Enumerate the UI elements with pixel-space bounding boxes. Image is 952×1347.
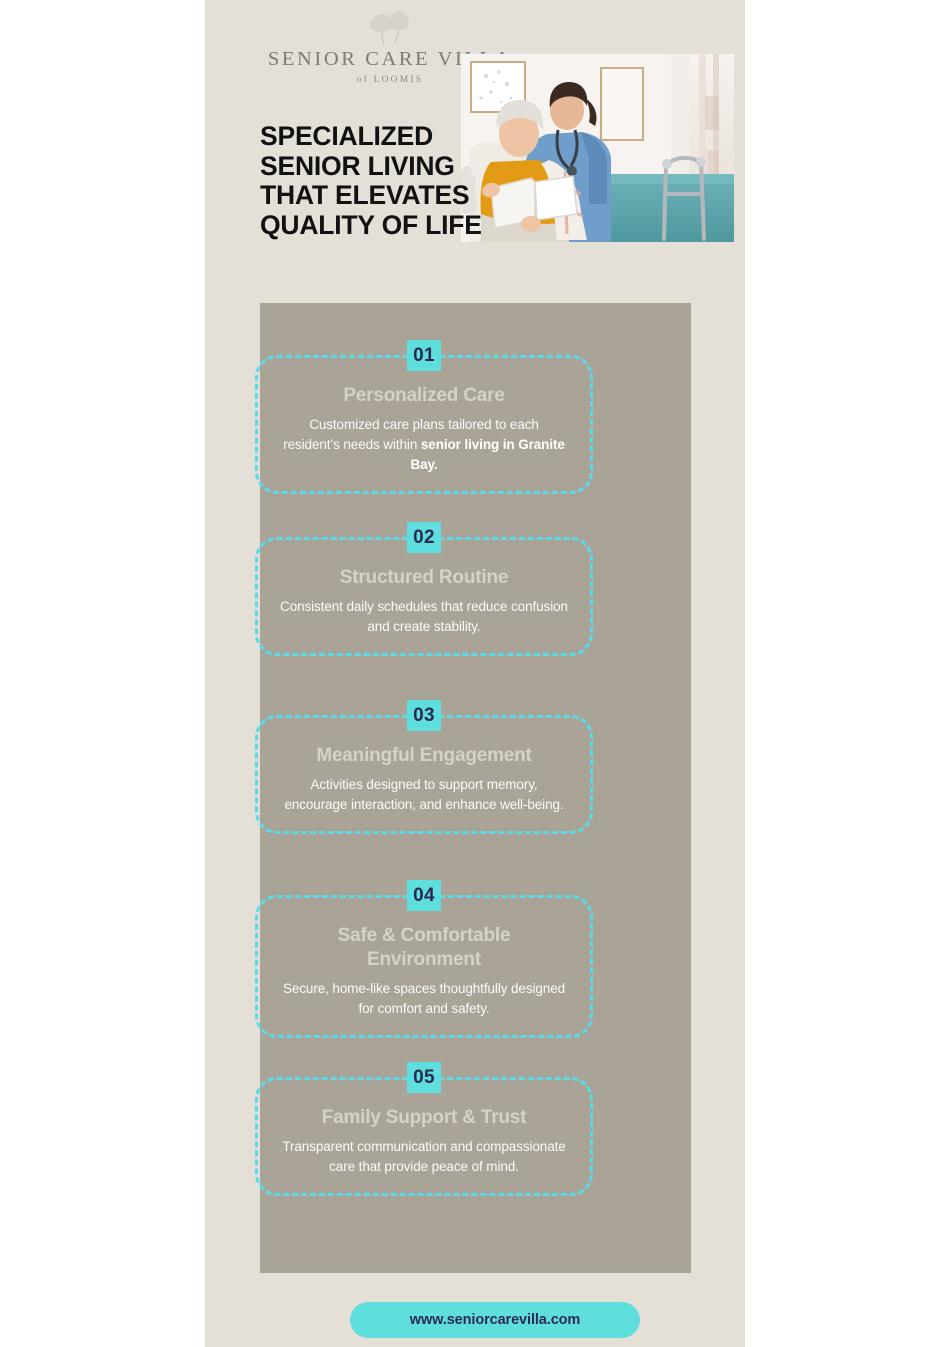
step-description-text: Consistent daily schedules that reduce c…	[280, 599, 568, 634]
step-body: Structured Routine Consistent daily sche…	[255, 537, 593, 656]
step-body: Safe & Comfortable Environment Secure, h…	[255, 895, 593, 1038]
step-description: Secure, home-like spaces thoughtfully de…	[280, 979, 568, 1019]
step-title: Family Support & Trust	[280, 1106, 568, 1130]
headline-line-1: SPECIALIZED	[260, 122, 560, 152]
headline-line-2: SENIOR LIVING	[260, 152, 560, 182]
step-description: Consistent daily schedules that reduce c…	[280, 597, 568, 637]
step-description: Activities designed to support memory, e…	[280, 775, 568, 815]
step-description: Customized care plans tailored to each r…	[280, 415, 568, 475]
step-number-badge: 05	[407, 1062, 441, 1093]
step-number-badge: 03	[407, 700, 441, 731]
website-button[interactable]: www.seniorcarevilla.com	[350, 1302, 640, 1338]
step-title: Personalized Care	[280, 384, 568, 408]
step-body: Personalized Care Customized care plans …	[255, 355, 593, 494]
step-title: Meaningful Engagement	[280, 744, 568, 768]
step-description-emphasis: senior living in Granite Bay.	[410, 437, 564, 472]
step-description-text: Secure, home-like spaces thoughtfully de…	[283, 981, 565, 1016]
headline-line-4: QUALITY OF LIFE	[260, 211, 560, 241]
step-number-badge: 01	[407, 340, 441, 371]
step-description-text: Activities designed to support memory, e…	[284, 777, 563, 812]
step-description: Transparent communication and compassion…	[280, 1137, 568, 1177]
step-body: Meaningful Engagement Activities designe…	[255, 715, 593, 834]
step-title: Safe & Comfortable Environment	[280, 924, 568, 972]
step-description-text: Transparent communication and compassion…	[282, 1139, 565, 1174]
step-body: Family Support & Trust Transparent commu…	[255, 1077, 593, 1196]
page-headline: SPECIALIZED SENIOR LIVING THAT ELEVATES …	[260, 122, 560, 240]
step-title: Structured Routine	[280, 566, 568, 590]
infographic-page: SENIOR CARE VILLA of LOOMIS	[205, 0, 745, 1347]
step-number-badge: 04	[407, 880, 441, 911]
step-number-badge: 02	[407, 522, 441, 553]
ginkgo-leaf-icon	[360, 8, 420, 46]
headline-line-3: THAT ELEVATES	[260, 181, 560, 211]
